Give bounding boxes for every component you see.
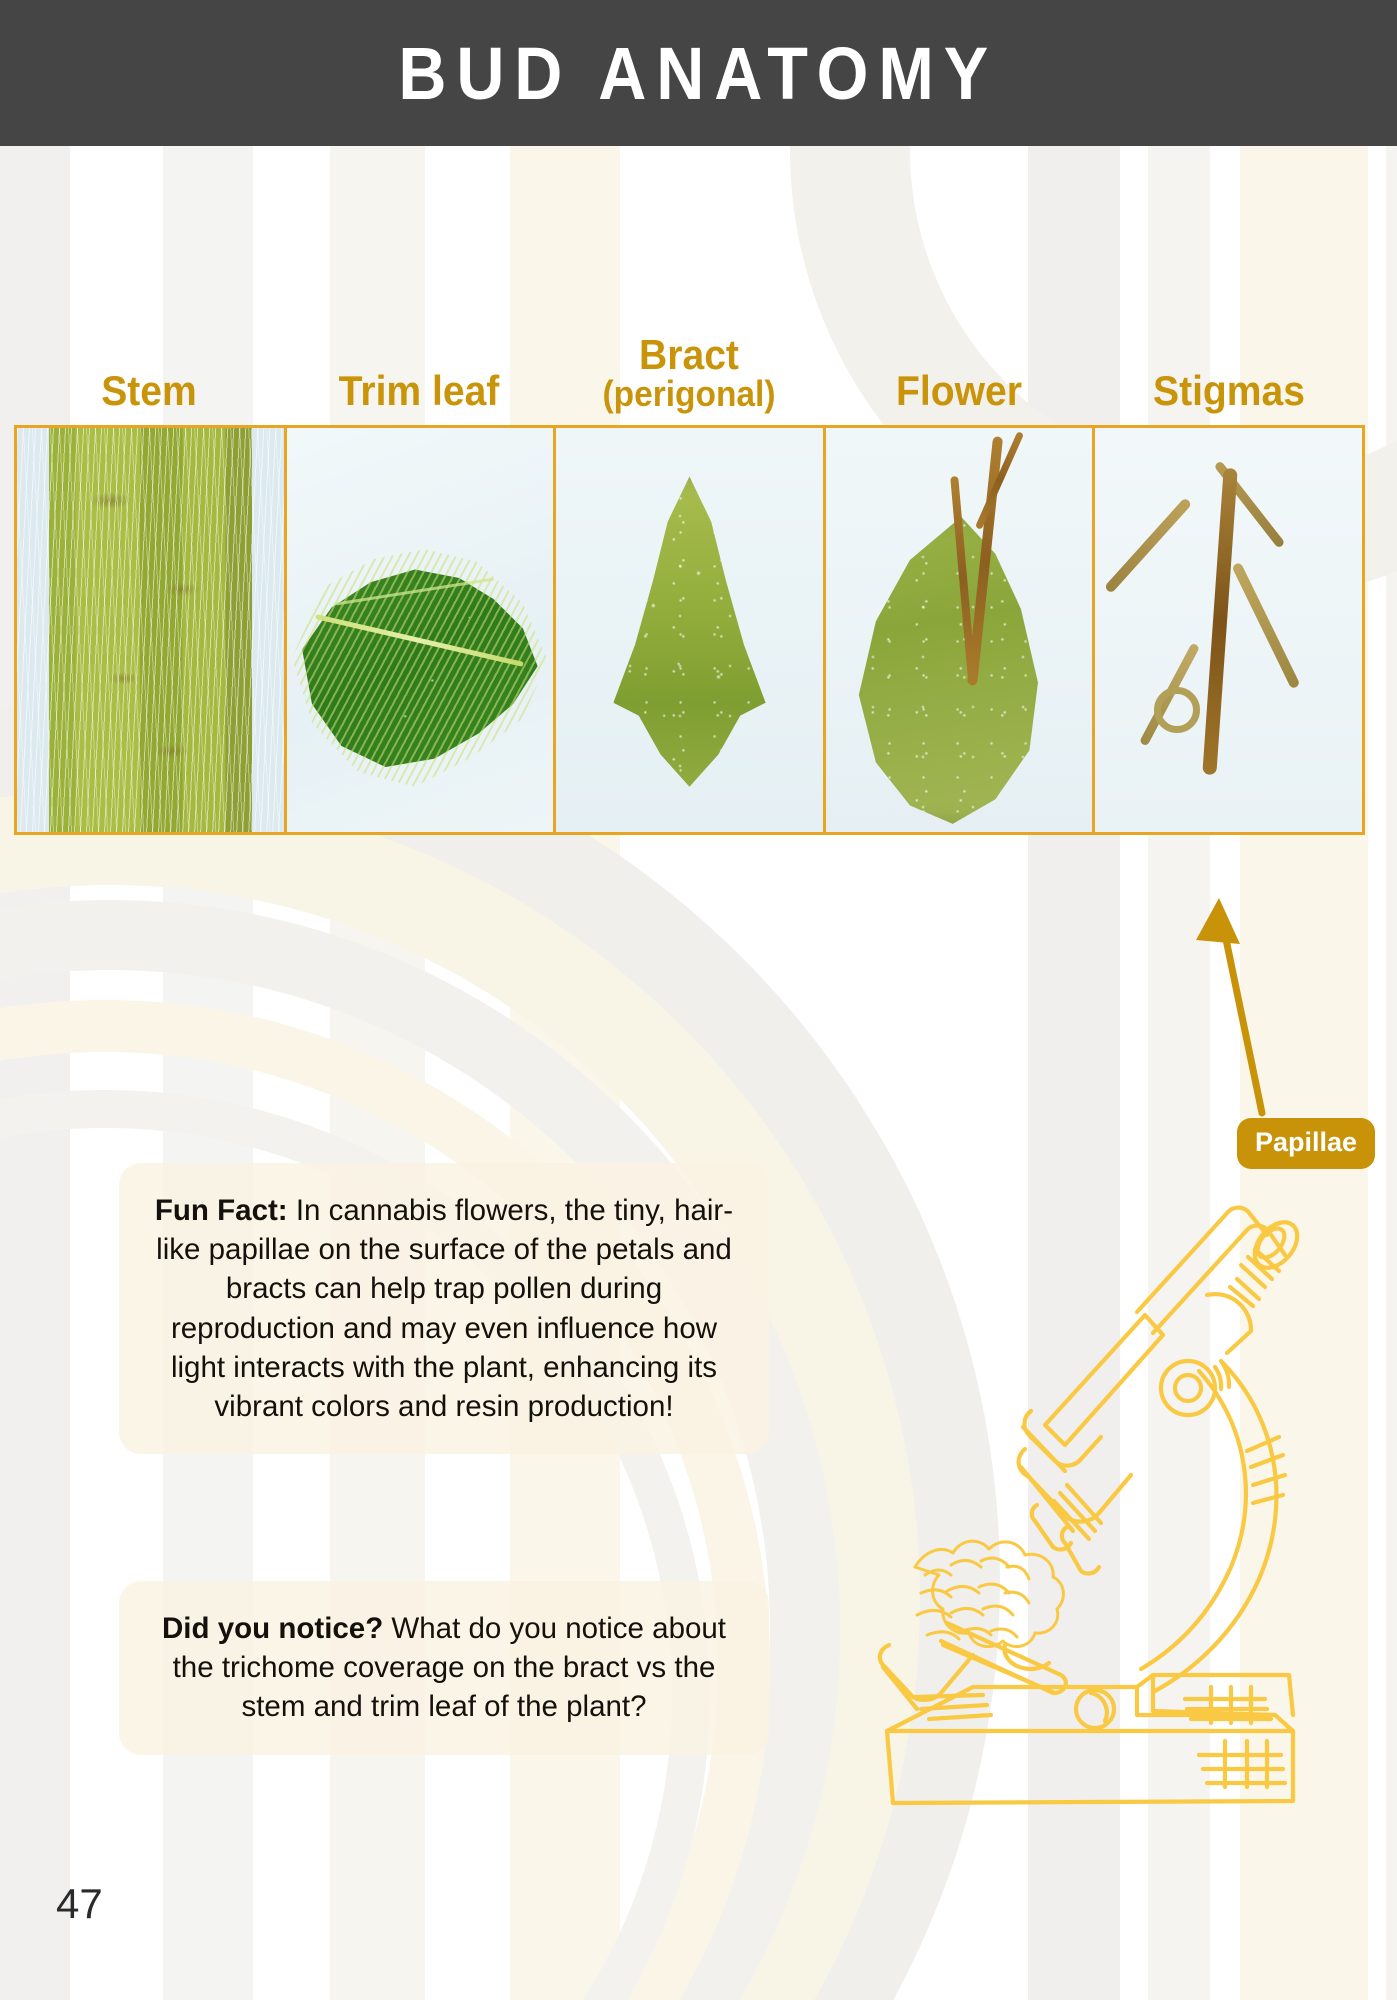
- specimen-label-text: Flower: [896, 370, 1022, 412]
- microscope-base: [887, 1675, 1293, 1803]
- page-number: 47: [56, 1880, 103, 1928]
- eyepiece-tube: [1137, 1208, 1306, 1333]
- specimen-label-stem: Stem: [23, 282, 274, 412]
- specimen-label-row: Stem Trim leaf Bract (perigonal) Flower …: [14, 282, 1364, 412]
- microscope-icon: [855, 1175, 1335, 1815]
- specimen-photo-trim-leaf: [284, 425, 557, 835]
- fun-fact-note: Fun Fact: In cannabis flowers, the tiny,…: [119, 1163, 769, 1454]
- papillae-badge: Papillae: [1237, 1118, 1375, 1169]
- page-header: BUD ANATOMY: [0, 0, 1397, 146]
- flower-micrograph: [826, 428, 1093, 832]
- trim-leaf-micrograph: [287, 428, 554, 832]
- microscope-barrel: [1023, 1294, 1251, 1471]
- specimen-label-subtext: (perigonal): [603, 376, 776, 412]
- stigma-loop: [1154, 687, 1200, 733]
- specimen-photo-stem: [14, 425, 287, 835]
- did-you-notice-note: Did you notice? What do you notice about…: [119, 1581, 769, 1755]
- specimen-label-bract: Bract (perigonal): [563, 282, 814, 412]
- fun-fact-title: Fun Fact:: [155, 1194, 288, 1227]
- specimen-photo-bract: [553, 425, 826, 835]
- stem-micrograph: [17, 428, 284, 832]
- specimen-label-flower: Flower: [833, 282, 1084, 412]
- focus-knob: [1161, 1361, 1229, 1415]
- cannabis-bud-specimen: [915, 1541, 1063, 1646]
- specimen-label-text: Stem: [101, 370, 197, 412]
- microscope-arm: [1141, 1363, 1285, 1691]
- specimen-label-text: Bract: [639, 331, 739, 378]
- specimen-label-text: Trim leaf: [339, 370, 500, 412]
- specimen-photo-flower: [823, 425, 1096, 835]
- bract-micrograph: [556, 428, 823, 832]
- specimen-label-trim-leaf: Trim leaf: [293, 282, 544, 412]
- did-notice-title: Did you notice?: [162, 1612, 383, 1645]
- specimen-photo-stigmas: [1092, 425, 1365, 835]
- specimen-label-text: Stigmas: [1153, 370, 1305, 412]
- specimen-photo-strip: [14, 425, 1365, 835]
- fun-fact-body: In cannabis flowers, the tiny, hair-like…: [156, 1194, 733, 1423]
- stigmas-micrograph: [1095, 428, 1362, 832]
- stem-trichome-hairs: [17, 428, 284, 832]
- page-title: BUD ANATOMY: [399, 31, 999, 116]
- specimen-label-stigmas: Stigmas: [1103, 282, 1354, 412]
